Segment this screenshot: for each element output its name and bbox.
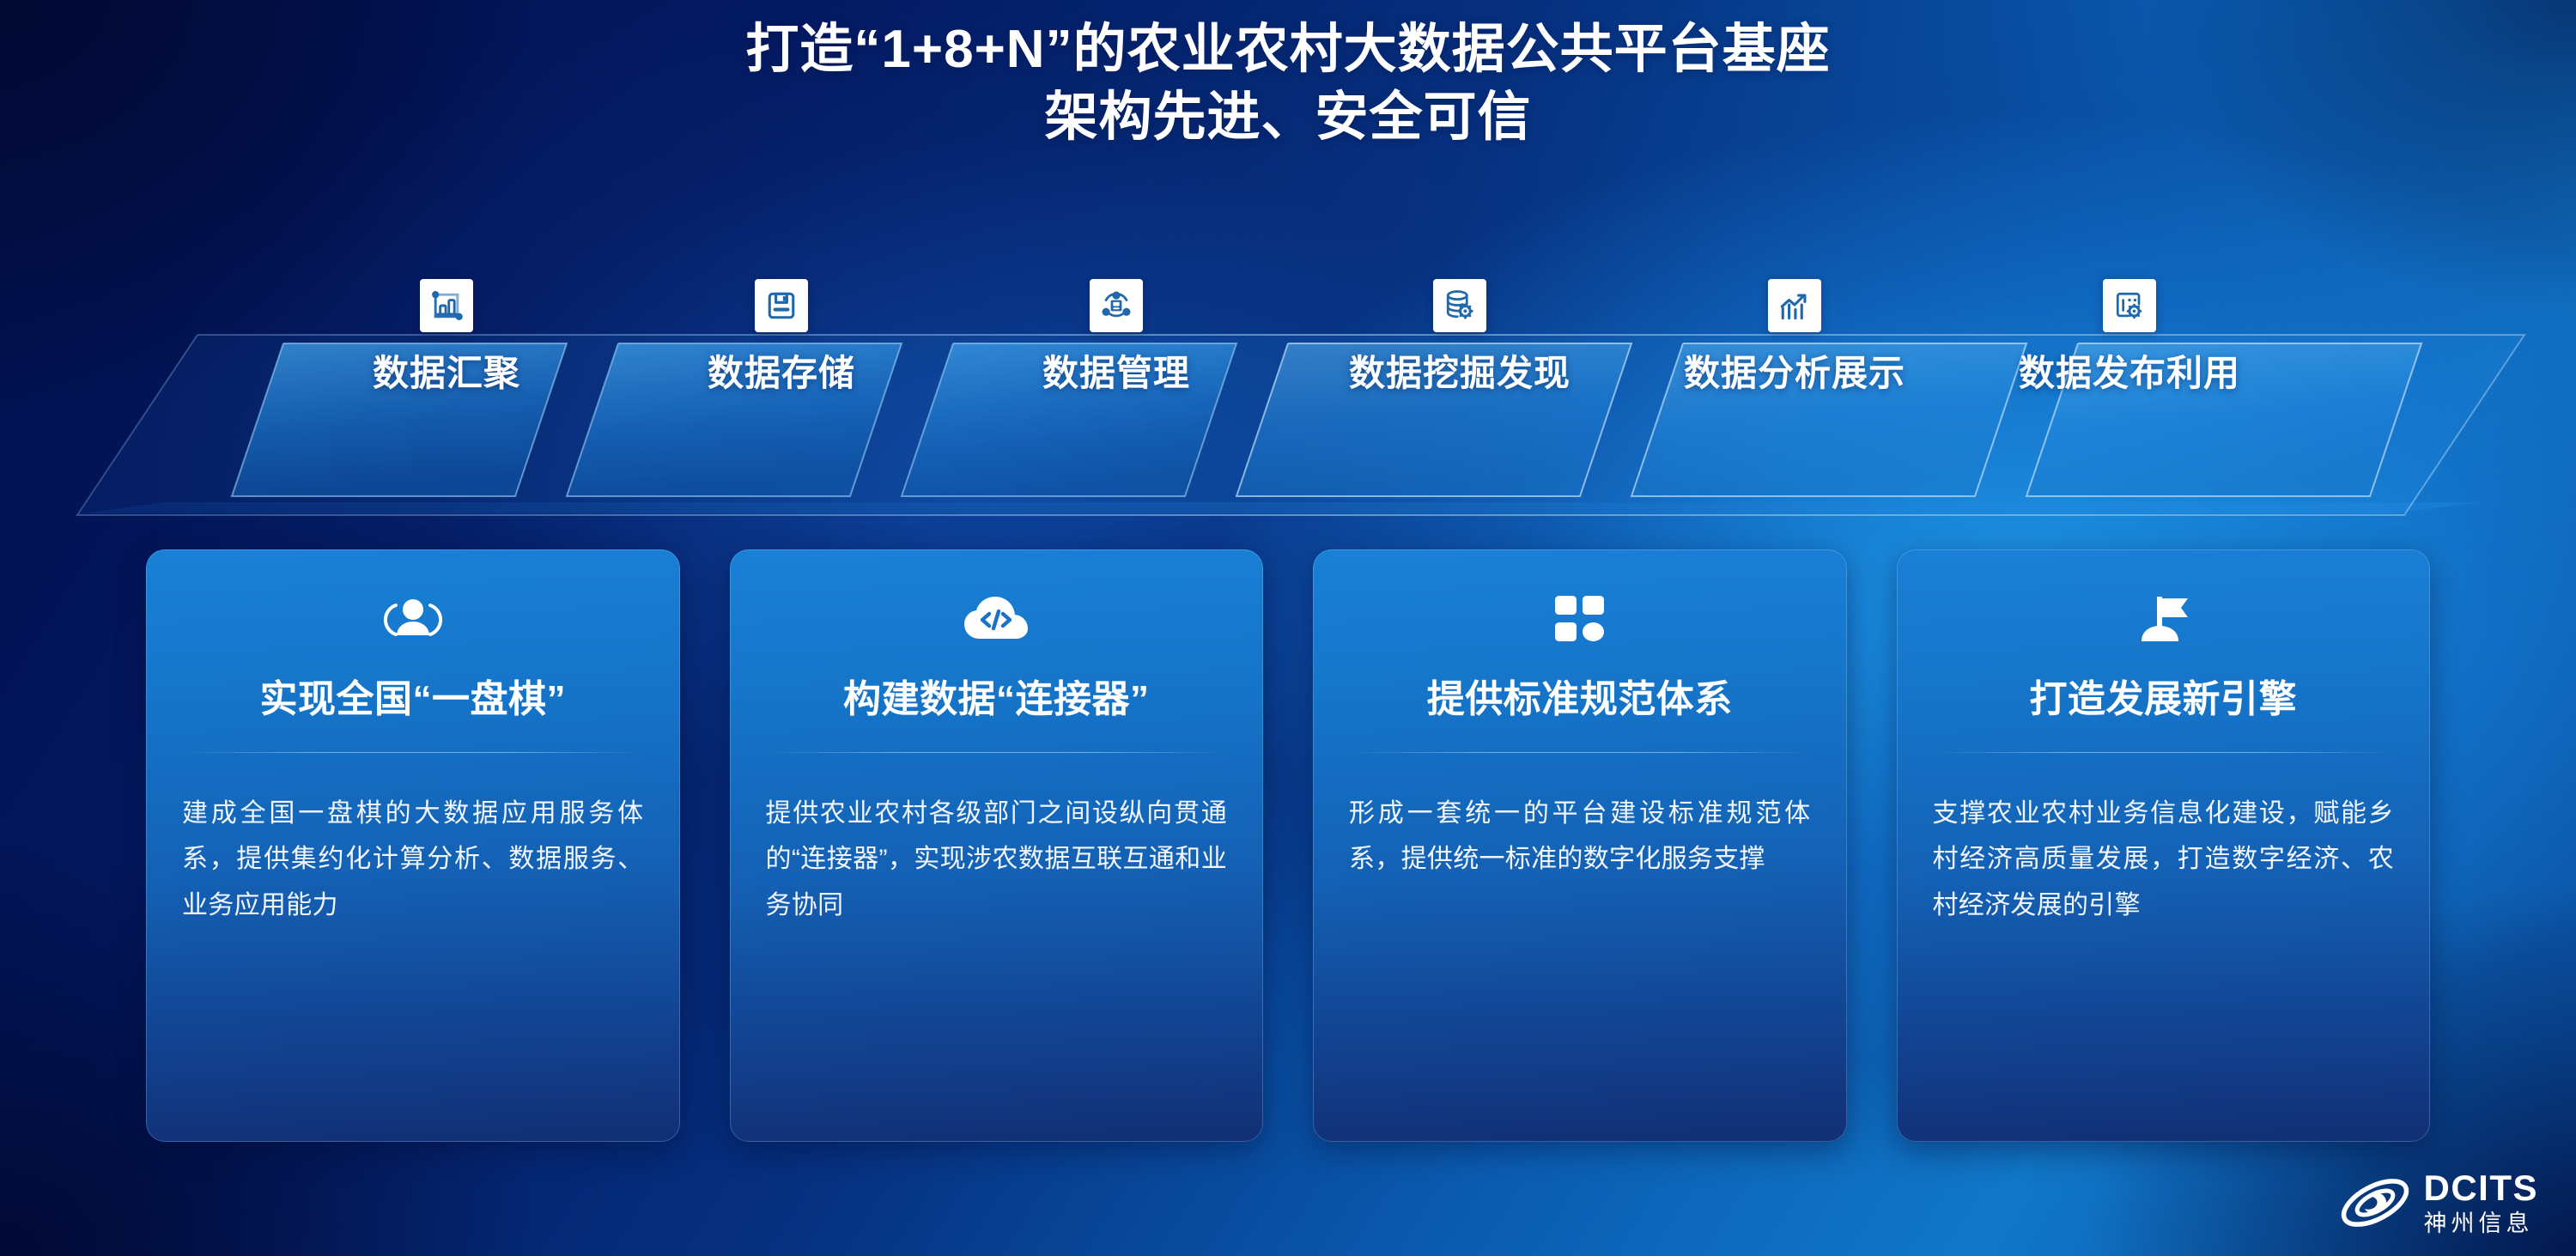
ribbon-item-6[interactable]: 数据发布利用 (2001, 279, 2258, 397)
feature-card-1[interactable]: 实现全国“一盘棋” 建成全国一盘棋的大数据应用服务体系，提供集约化计算分析、数据… (146, 549, 680, 1142)
dcits-swirl-icon (2338, 1170, 2412, 1235)
bar-chart-aggregate-icon (420, 279, 473, 332)
feature-card-4-body: 支撑农业农村业务信息化建设，赋能乡村经济高质量发展，打造数字经济、农村经济发展的… (1933, 791, 2395, 928)
ribbon-item-1-label: 数据汇聚 (318, 344, 575, 397)
ribbon-item-4[interactable]: 数据挖掘发现 (1331, 279, 1589, 397)
feature-card-4-divider (1933, 752, 2395, 753)
cloud-code-icon (766, 587, 1228, 652)
feature-card-1-divider (182, 752, 644, 753)
feature-card-3[interactable]: 提供标准规范体系 形成一套统一的平台建设标准规范体系，提供统一标准的数字化服务支… (1313, 549, 1847, 1142)
slide-root: 打造“1+8+N”的农业农村大数据公共平台基座 架构先进、安全可信 (0, 0, 2576, 1256)
feature-card-1-body: 建成全国一盘棋的大数据应用服务体系，提供集约化计算分析、数据服务、业务应用能力 (182, 791, 644, 928)
trend-bars-icon (1768, 279, 1821, 332)
feature-card-3-title: 提供标准规范体系 (1349, 668, 1811, 723)
ribbon-item-3-label: 数据管理 (987, 344, 1245, 397)
company-logo: DCITS 神州信息 (2338, 1170, 2539, 1235)
ribbon-item-6-label: 数据发布利用 (2001, 344, 2258, 397)
feature-card-list: 实现全国“一盘棋” 建成全国一盘棋的大数据应用服务体系，提供集约化计算分析、数据… (146, 549, 2430, 1142)
floppy-disk-icon (755, 279, 808, 332)
flag-hill-icon (1933, 587, 2395, 652)
feature-card-4-title: 打造发展新引擎 (1933, 668, 2395, 723)
ribbon-item-2-label: 数据存储 (653, 344, 910, 397)
database-gear-icon (1433, 279, 1486, 332)
ribbon-item-1[interactable]: 数据汇聚 (318, 279, 575, 397)
ribbon-item-2[interactable]: 数据存储 (653, 279, 910, 397)
feature-card-1-title: 实现全国“一盘棋” (182, 668, 644, 723)
feature-card-2-divider (766, 752, 1228, 753)
page-title: 打造“1+8+N”的农业农村大数据公共平台基座 架构先进、安全可信 (0, 15, 2576, 152)
data-management-nodes-icon (1090, 279, 1143, 332)
grid-four-icon (1349, 587, 1811, 652)
ribbon-item-5-label: 数据分析展示 (1666, 344, 1923, 397)
logo-wordmark: DCITS 神州信息 (2424, 1170, 2539, 1235)
title-line-2: 架构先进、安全可信 (0, 83, 2576, 151)
feature-card-2-body: 提供农业农村各级部门之间设纵向贯通的“连接器”，实现涉农数据互联互通和业务协同 (766, 791, 1228, 928)
users-group-icon (182, 587, 644, 652)
feature-card-4[interactable]: 打造发展新引擎 支撑农业农村业务信息化建设，赋能乡村经济高质量发展，打造数字经济… (1897, 549, 2431, 1142)
ribbon-item-5[interactable]: 数据分析展示 (1666, 279, 1923, 397)
ribbon-item-3[interactable]: 数据管理 (987, 279, 1245, 397)
feature-card-3-divider (1349, 752, 1811, 753)
feature-card-2[interactable]: 构建数据“连接器” 提供农业农村各级部门之间设纵向贯通的“连接器”，实现涉农数据… (730, 549, 1264, 1142)
logo-name-cn: 神州信息 (2424, 1212, 2539, 1235)
panel-gear-icon (2103, 279, 2156, 332)
feature-card-2-title: 构建数据“连接器” (766, 668, 1228, 723)
logo-name-en: DCITS (2424, 1170, 2539, 1206)
ribbon-item-4-label: 数据挖掘发现 (1331, 344, 1589, 397)
title-line-1: 打造“1+8+N”的农业农村大数据公共平台基座 (0, 15, 2576, 83)
feature-card-3-body: 形成一套统一的平台建设标准规范体系，提供统一标准的数字化服务支撑 (1349, 791, 1811, 883)
